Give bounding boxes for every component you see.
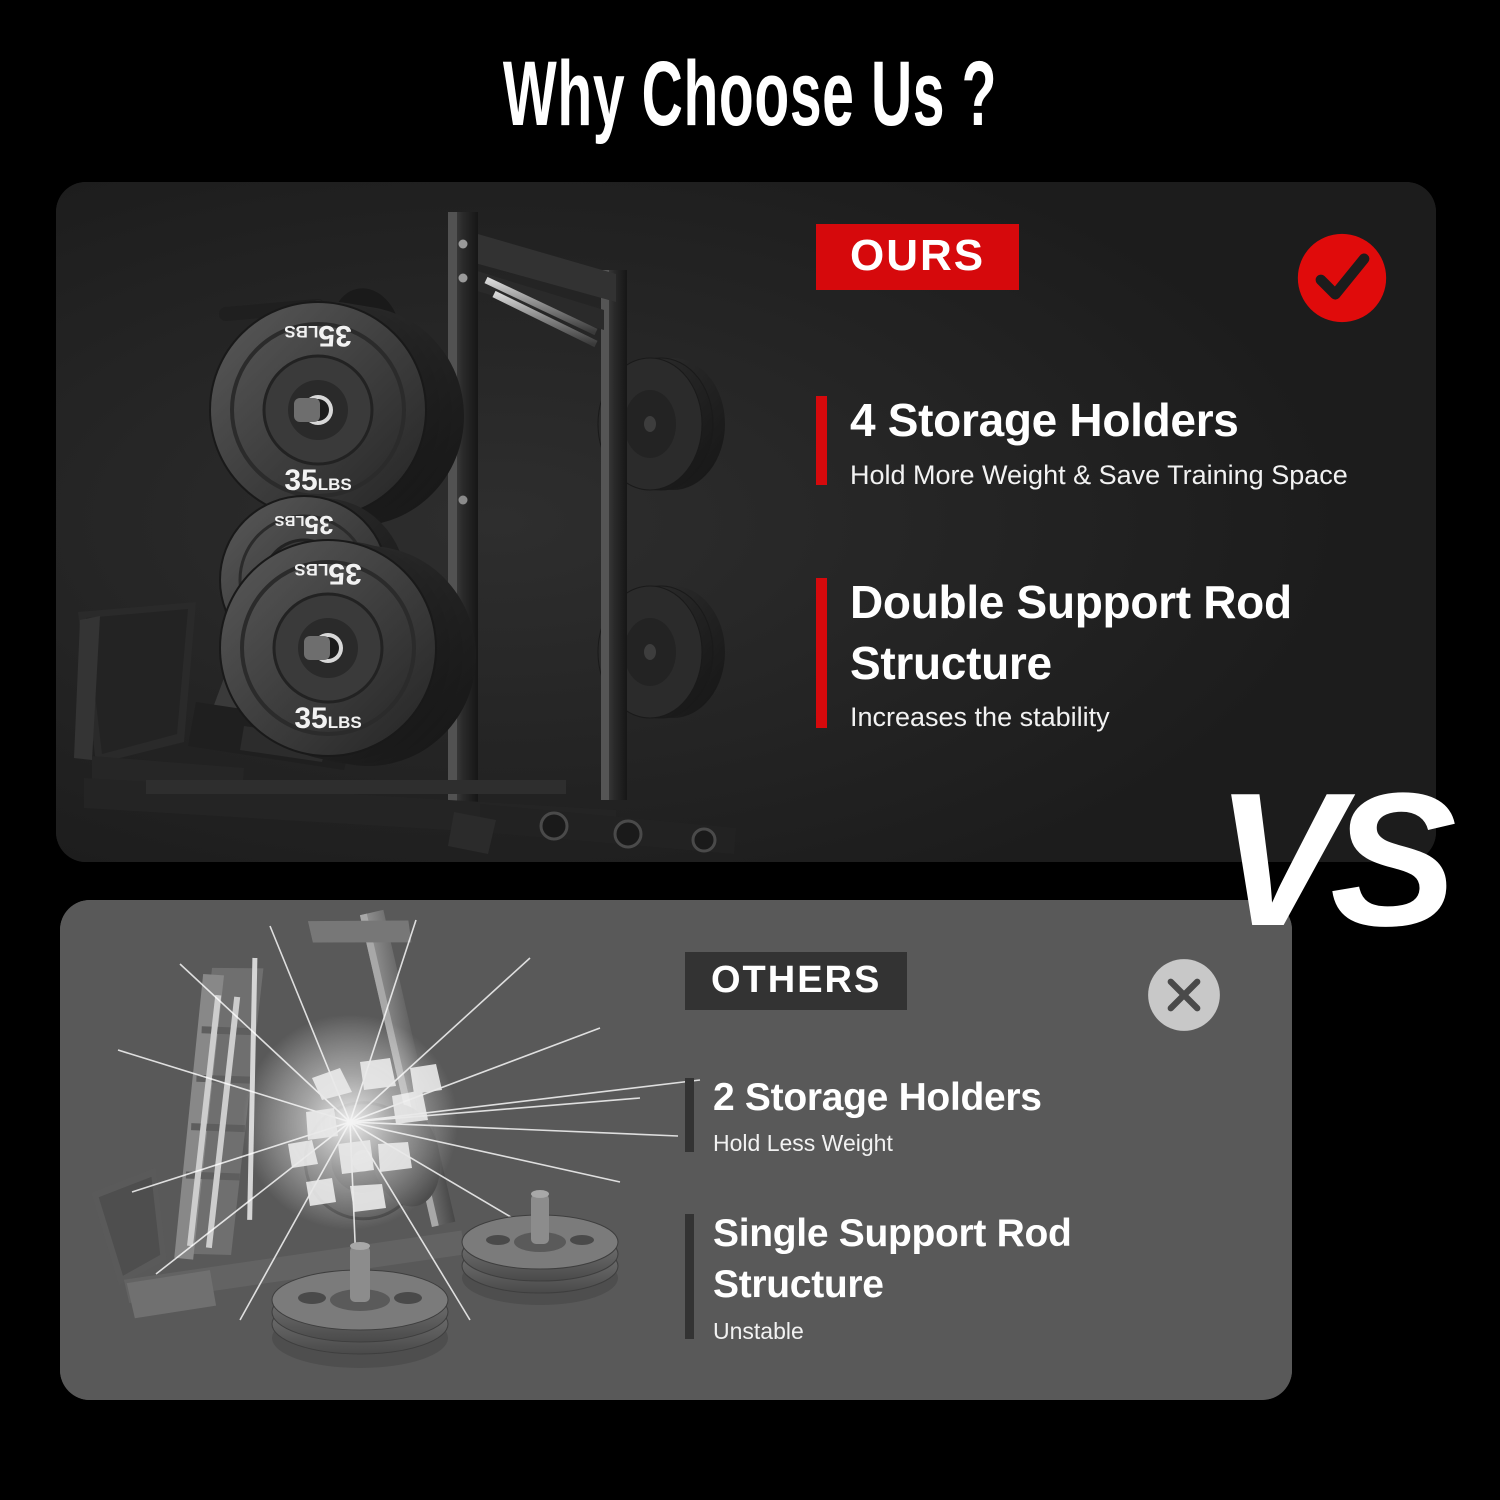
ours-feature-2: Double Support Rod Structure Increases t… — [816, 572, 1406, 736]
others-feature-1-subtitle: Hold Less Weight — [713, 1128, 1205, 1159]
others-feature-1-title: 2 Storage Holders — [713, 1072, 1205, 1123]
accent-bar — [685, 1214, 694, 1339]
vs-label: VS — [1215, 760, 1445, 960]
page-title: Why Choose Us ? — [285, 42, 1215, 147]
accent-bar — [816, 578, 827, 728]
footplate — [74, 602, 196, 764]
others-badge: OTHERS — [685, 952, 907, 1010]
accent-bar — [816, 396, 827, 485]
ours-feature-1-title: 4 Storage Holders — [850, 390, 1416, 451]
accent-bar — [685, 1078, 694, 1152]
x-circle-icon — [1145, 956, 1223, 1034]
ours-feature-1-subtitle: Hold More Weight & Save Training Space — [850, 457, 1416, 493]
others-feature-1: 2 Storage Holders Hold Less Weight — [685, 1072, 1205, 1160]
others-feature-2-subtitle: Unstable — [713, 1316, 1185, 1347]
ours-content: OURS 4 Storage Holders Hold More Weight … — [816, 224, 1416, 824]
others-panel: OTHERS 2 Storage Holders Hold Less Weigh… — [60, 900, 1292, 1400]
others-feature-2-title: Single Support Rod Structure — [713, 1208, 1185, 1311]
others-content: OTHERS 2 Storage Holders Hold Less Weigh… — [685, 952, 1245, 1372]
infographic-root: Why Choose Us ? — [0, 0, 1500, 1500]
weight-plate-upper: 35LBS 35LBS — [210, 302, 464, 526]
others-feature-2: Single Support Rod Structure Unstable — [685, 1208, 1185, 1347]
check-circle-icon — [1294, 230, 1390, 326]
ours-badge: OURS — [816, 224, 1019, 290]
ours-feature-2-subtitle: Increases the stability — [850, 699, 1406, 735]
ours-feature-1: 4 Storage Holders Hold More Weight & Sav… — [816, 390, 1416, 493]
ours-feature-2-title: Double Support Rod Structure — [850, 572, 1406, 693]
